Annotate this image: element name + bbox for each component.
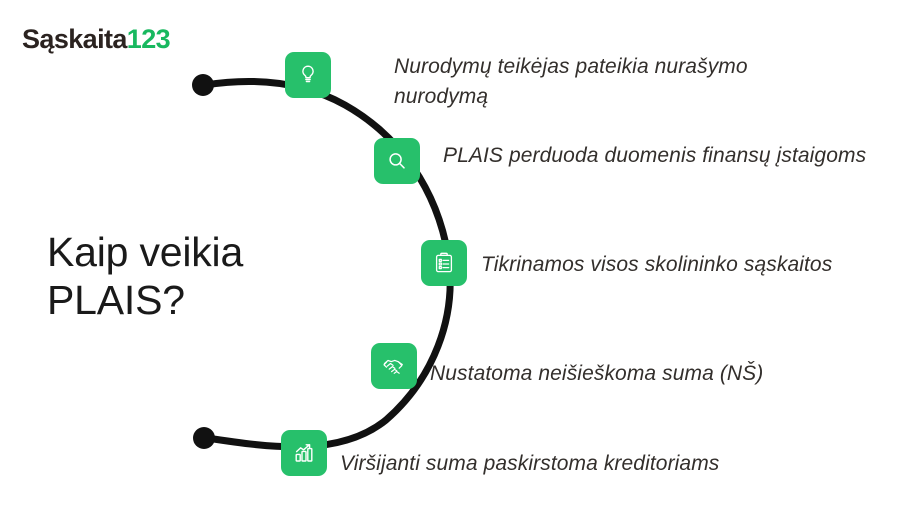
step-label-4: Nustatoma neišieškoma suma (NŠ): [430, 359, 860, 389]
bar-chart-growth-icon: [292, 441, 316, 465]
step-node-3[interactable]: [421, 240, 467, 286]
step-label-5: Viršijanti suma paskirstoma kreditoriams: [340, 449, 810, 479]
step-node-2[interactable]: [374, 138, 420, 184]
step-node-4[interactable]: [371, 343, 417, 389]
arc-path: [205, 82, 450, 447]
handshake-icon: [381, 353, 407, 379]
step-label-2: PLAIS perduoda duomenis finansų įstaigom…: [443, 141, 873, 171]
step-label-3: Tikrinamos visos skolininko sąskaitos: [481, 250, 911, 280]
lightbulb-icon: [296, 63, 320, 87]
arc-endpoint-top-dot: [192, 74, 214, 96]
step-label-1: Nurodymų teikėjas pateikia nurašymo nuro…: [394, 52, 834, 112]
step-node-1[interactable]: [285, 52, 331, 98]
magnifier-icon: [385, 149, 409, 173]
infographic-canvas: Sąskaita123 Kaip veikia PLAIS?: [0, 0, 924, 517]
arc-endpoint-bottom-dot: [193, 427, 215, 449]
step-node-5[interactable]: [281, 430, 327, 476]
clipboard-checklist-icon: [432, 251, 456, 275]
